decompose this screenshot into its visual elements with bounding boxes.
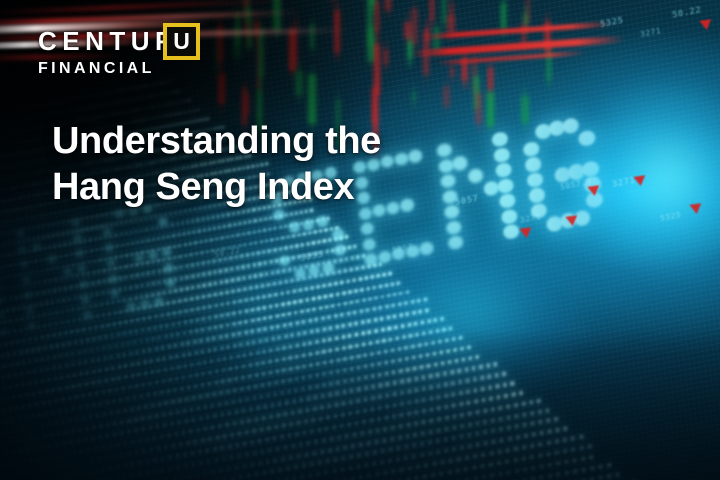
banner-content: CENTURY U FINANCIAL Understanding the Ha… xyxy=(0,0,720,480)
brand-logo-wordmark: CENTURY U xyxy=(38,26,201,56)
century-financial-banner: 5325327150.2250575057.932715055532532715… xyxy=(0,0,720,480)
brand-logo-u-box: U xyxy=(163,23,200,60)
brand-logo-u-letter: U xyxy=(173,30,190,53)
brand-name-financial: FINANCIAL xyxy=(38,59,201,79)
page-title: Understanding the Hang Seng Index xyxy=(52,118,381,210)
brand-logo[interactable]: CENTURY U FINANCIAL xyxy=(38,26,201,79)
